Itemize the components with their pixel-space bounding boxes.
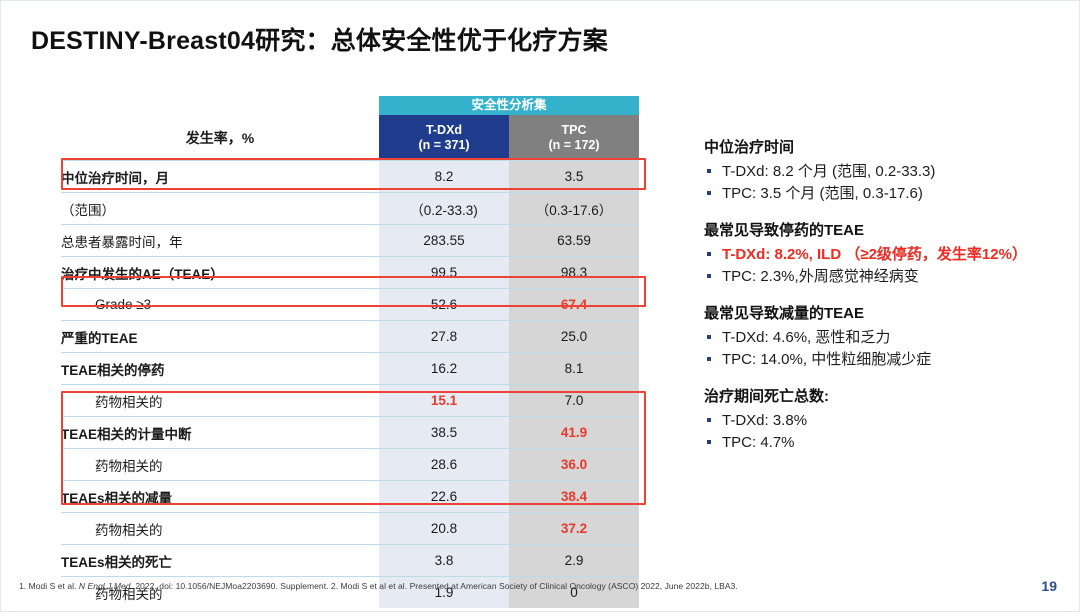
table-row: 药物相关的15.17.0 xyxy=(61,385,639,417)
column-header-tpc-name: TPC xyxy=(562,123,587,137)
bullet-dot-icon xyxy=(707,335,711,339)
cell-tpc: 38.4 xyxy=(509,481,639,513)
footnote: 1. Modi S et al. N Engl J Med. 2022. doi… xyxy=(19,581,738,591)
panel-bullet: TPC: 3.5 个月 (范围, 0.3-17.6) xyxy=(704,183,1054,204)
panel-bullet: TPC: 4.7% xyxy=(704,432,1054,453)
cell-tpc: 3.5 xyxy=(509,161,639,193)
cell-tpc: 25.0 xyxy=(509,321,639,353)
table-row: 药物相关的20.837.2 xyxy=(61,513,639,545)
table-head: 安全性分析集 发生率，% T-DXd (n = 371) TPC (n = 17… xyxy=(61,96,639,161)
footnote-part1: 1. Modi S et al. xyxy=(19,581,79,591)
column-header-tdxd-n: (n = 371) xyxy=(418,138,469,152)
panel-block: 最常见导致减量的TEAET-DXd: 4.6%, 恶性和乏力TPC: 14.0%… xyxy=(704,304,1054,370)
row-label: 药物相关的 xyxy=(61,449,379,481)
cell-tpc: 8.1 xyxy=(509,353,639,385)
table-row: 严重的TEAE27.825.0 xyxy=(61,321,639,353)
row-label: Grade ≥3 xyxy=(61,289,379,321)
column-header-tpc: TPC (n = 172) xyxy=(509,115,639,161)
panel-bullet-text: T-DXd: 8.2 个月 (范围, 0.2-33.3) xyxy=(722,161,1054,182)
summary-panel: 中位治疗时间T-DXd: 8.2 个月 (范围, 0.2-33.3)TPC: 3… xyxy=(704,138,1054,470)
cell-tdxd: 27.8 xyxy=(379,321,509,353)
cell-tdxd: 16.2 xyxy=(379,353,509,385)
row-label: TEAEs相关的死亡 xyxy=(61,545,379,577)
panel-bullet: T-DXd: 4.6%, 恶性和乏力 xyxy=(704,327,1054,348)
footnote-part2: . 2022. doi: 10.1056/NEJMoa2203690. Supp… xyxy=(131,581,738,591)
cell-tdxd: （0.2-33.3) xyxy=(379,193,509,225)
panel-block-title: 最常见导致停药的TEAE xyxy=(704,221,1054,241)
cell-tdxd: 22.6 xyxy=(379,481,509,513)
table-row: TEAEs相关的减量22.638.4 xyxy=(61,481,639,513)
incidence-header: 发生率，% xyxy=(61,115,379,161)
bullet-dot-icon xyxy=(707,357,711,361)
cell-tdxd: 283.55 xyxy=(379,225,509,257)
cell-tpc: 7.0 xyxy=(509,385,639,417)
bullet-dot-icon xyxy=(707,252,711,256)
panel-block-title: 中位治疗时间 xyxy=(704,138,1054,158)
safety-table: 安全性分析集 发生率，% T-DXd (n = 371) TPC (n = 17… xyxy=(61,96,639,608)
table-row: TEAE相关的停药16.28.1 xyxy=(61,353,639,385)
cell-tpc: 63.59 xyxy=(509,225,639,257)
cell-tdxd: 99.5 xyxy=(379,257,509,289)
cell-tdxd: 28.6 xyxy=(379,449,509,481)
cell-tdxd: 20.8 xyxy=(379,513,509,545)
analysis-set-band-row: 安全性分析集 xyxy=(61,96,639,115)
row-label: 治疗中发生的AE（TEAE） xyxy=(61,257,379,289)
cell-tpc: （0.3-17.6） xyxy=(509,193,639,225)
row-label: 药物相关的 xyxy=(61,385,379,417)
panel-bullet-text: T-DXd: 4.6%, 恶性和乏力 xyxy=(722,327,1054,348)
column-header-tdxd: T-DXd (n = 371) xyxy=(379,115,509,161)
bullet-dot-icon xyxy=(707,191,711,195)
band-spacer xyxy=(61,96,379,115)
page-title: DESTINY-Breast04研究：总体安全性优于化疗方案 xyxy=(31,21,608,57)
bullet-dot-icon xyxy=(707,440,711,444)
slide-canvas: DESTINY-Breast04研究：总体安全性优于化疗方案 安全性分析集 发生… xyxy=(0,0,1080,612)
bullet-dot-icon xyxy=(707,418,711,422)
column-header-tpc-n: (n = 172) xyxy=(548,138,599,152)
cell-tpc: 98.3 xyxy=(509,257,639,289)
panel-bullet: TPC: 2.3%,外周感觉神经病变 xyxy=(704,266,1054,287)
row-label: TEAE相关的停药 xyxy=(61,353,379,385)
cell-tpc: 41.9 xyxy=(509,417,639,449)
panel-block-title: 治疗期间死亡总数: xyxy=(704,387,1054,407)
column-header-tdxd-name: T-DXd xyxy=(426,123,462,137)
panel-block-title: 最常见导致减量的TEAE xyxy=(704,304,1054,324)
cell-tpc: 2.9 xyxy=(509,545,639,577)
panel-bullet-text: TPC: 4.7% xyxy=(722,432,1054,453)
panel-bullet-text: TPC: 2.3%,外周感觉神经病变 xyxy=(722,266,1054,287)
cell-tpc: 36.0 xyxy=(509,449,639,481)
table-row: （范围）（0.2-33.3)（0.3-17.6） xyxy=(61,193,639,225)
cell-tdxd: 3.8 xyxy=(379,545,509,577)
panel-bullet-text: TPC: 3.5 个月 (范围, 0.3-17.6) xyxy=(722,183,1054,204)
cell-tpc: 37.2 xyxy=(509,513,639,545)
cell-tpc: 67.4 xyxy=(509,289,639,321)
cell-tdxd: 15.1 xyxy=(379,385,509,417)
panel-block: 中位治疗时间T-DXd: 8.2 个月 (范围, 0.2-33.3)TPC: 3… xyxy=(704,138,1054,204)
footnote-journal: N Engl J Med xyxy=(79,581,131,591)
row-label: （范围） xyxy=(61,193,379,225)
analysis-set-band-label: 安全性分析集 xyxy=(379,96,639,115)
table-row: 总患者暴露时间，年283.5563.59 xyxy=(61,225,639,257)
cell-tdxd: 8.2 xyxy=(379,161,509,193)
table-body: 中位治疗时间，月8.23.5（范围）（0.2-33.3)（0.3-17.6）总患… xyxy=(61,161,639,609)
row-label: 中位治疗时间，月 xyxy=(61,161,379,193)
table-row: Grade ≥352.667.4 xyxy=(61,289,639,321)
table-row: TEAEs相关的死亡3.82.9 xyxy=(61,545,639,577)
row-label: 严重的TEAE xyxy=(61,321,379,353)
panel-bullet-text: T-DXd: 8.2%, ILD （≥2级停药，发生率12%） xyxy=(722,244,1054,265)
panel-block: 治疗期间死亡总数:T-DXd: 3.8%TPC: 4.7% xyxy=(704,387,1054,453)
row-label: TEAE相关的计量中断 xyxy=(61,417,379,449)
table-row: 治疗中发生的AE（TEAE）99.598.3 xyxy=(61,257,639,289)
row-label: 总患者暴露时间，年 xyxy=(61,225,379,257)
page-number: 19 xyxy=(1041,578,1057,594)
row-label: 药物相关的 xyxy=(61,513,379,545)
column-header-row: 发生率，% T-DXd (n = 371) TPC (n = 172) xyxy=(61,115,639,161)
cell-tdxd: 52.6 xyxy=(379,289,509,321)
panel-bullet: T-DXd: 8.2 个月 (范围, 0.2-33.3) xyxy=(704,161,1054,182)
safety-table-container: 安全性分析集 发生率，% T-DXd (n = 371) TPC (n = 17… xyxy=(61,96,639,608)
panel-block: 最常见导致停药的TEAET-DXd: 8.2%, ILD （≥2级停药，发生率1… xyxy=(704,221,1054,287)
bullet-dot-icon xyxy=(707,274,711,278)
row-label: TEAEs相关的减量 xyxy=(61,481,379,513)
bullet-dot-icon xyxy=(707,169,711,173)
table-row: 中位治疗时间，月8.23.5 xyxy=(61,161,639,193)
table-row: 药物相关的28.636.0 xyxy=(61,449,639,481)
panel-bullet: T-DXd: 3.8% xyxy=(704,410,1054,431)
table-row: TEAE相关的计量中断38.541.9 xyxy=(61,417,639,449)
cell-tdxd: 38.5 xyxy=(379,417,509,449)
panel-bullet: T-DXd: 8.2%, ILD （≥2级停药，发生率12%） xyxy=(704,244,1054,265)
panel-bullet: TPC: 14.0%, 中性粒细胞减少症 xyxy=(704,349,1054,370)
panel-bullet-text: T-DXd: 3.8% xyxy=(722,410,1054,431)
panel-bullet-text: TPC: 14.0%, 中性粒细胞减少症 xyxy=(722,349,1054,370)
